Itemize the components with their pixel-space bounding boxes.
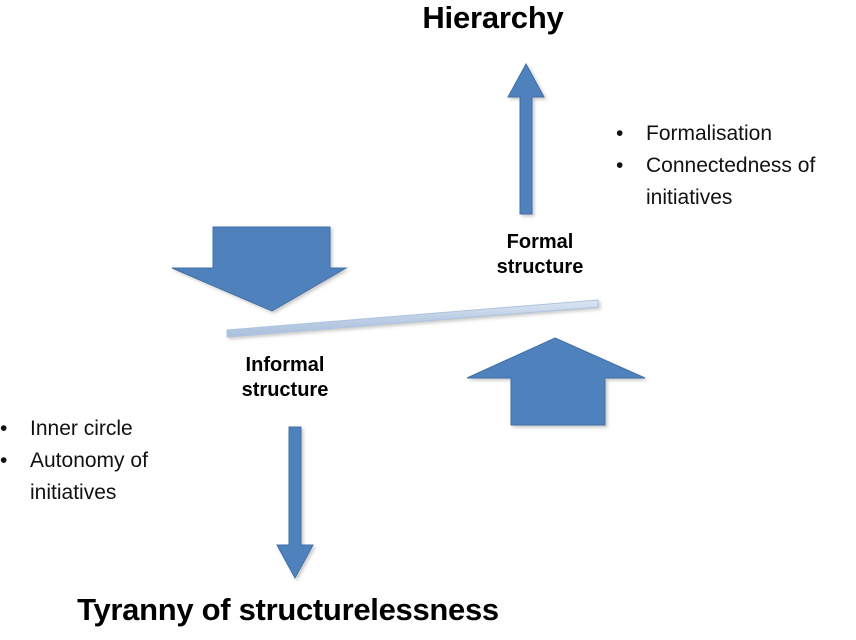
list-item-label-continuation: initiatives [0, 477, 215, 509]
balance-beam [227, 300, 598, 337]
list-item-label: Inner circle [30, 413, 215, 445]
bullet-point-icon: • [0, 413, 30, 445]
list-item-label: Connectedness of [646, 150, 856, 182]
label-informal-structure: Informal structure [190, 353, 380, 403]
diagram-art-layer [0, 0, 856, 640]
bullet-list-formal-attributes: • Formalisation • Connectedness of initi… [616, 118, 856, 214]
list-item: • Connectedness of [616, 150, 856, 182]
label-formal-structure: Formal structure [455, 230, 625, 280]
list-item: • Inner circle [0, 413, 215, 445]
label-formal-structure-line1: Formal [455, 230, 625, 255]
list-item-label: Autonomy of [30, 445, 215, 477]
block-arrow-up-pressure-icon [467, 338, 645, 425]
list-item-label-continuation: initiatives [616, 182, 856, 214]
title-tyranny-of-structurelessness: Tyranny of structurelessness [0, 592, 856, 628]
block-arrow-down-pressure-icon [172, 227, 346, 311]
bullet-point-icon: • [616, 118, 646, 150]
arrow-up-to-hierarchy-icon [508, 64, 544, 214]
bullet-point-icon: • [0, 445, 30, 477]
title-hierarchy-text: Hierarchy [422, 0, 563, 35]
diagram-canvas: Hierarchy Tyranny of structurelessness F… [0, 0, 856, 640]
title-hierarchy: Hierarchy [0, 0, 856, 36]
label-informal-structure-line1: Informal [190, 353, 380, 378]
list-item-label: Formalisation [646, 118, 856, 150]
title-tyranny-text: Tyranny of structurelessness [77, 592, 499, 627]
bullet-list-informal-attributes: • Inner circle • Autonomy of initiatives [0, 413, 215, 509]
bullet-point-icon: • [616, 150, 646, 182]
list-item: • Formalisation [616, 118, 856, 150]
label-informal-structure-line2: structure [190, 378, 380, 403]
label-formal-structure-line2: structure [455, 255, 625, 280]
arrow-down-to-tyranny-icon [277, 427, 313, 578]
list-item: • Autonomy of [0, 445, 215, 477]
